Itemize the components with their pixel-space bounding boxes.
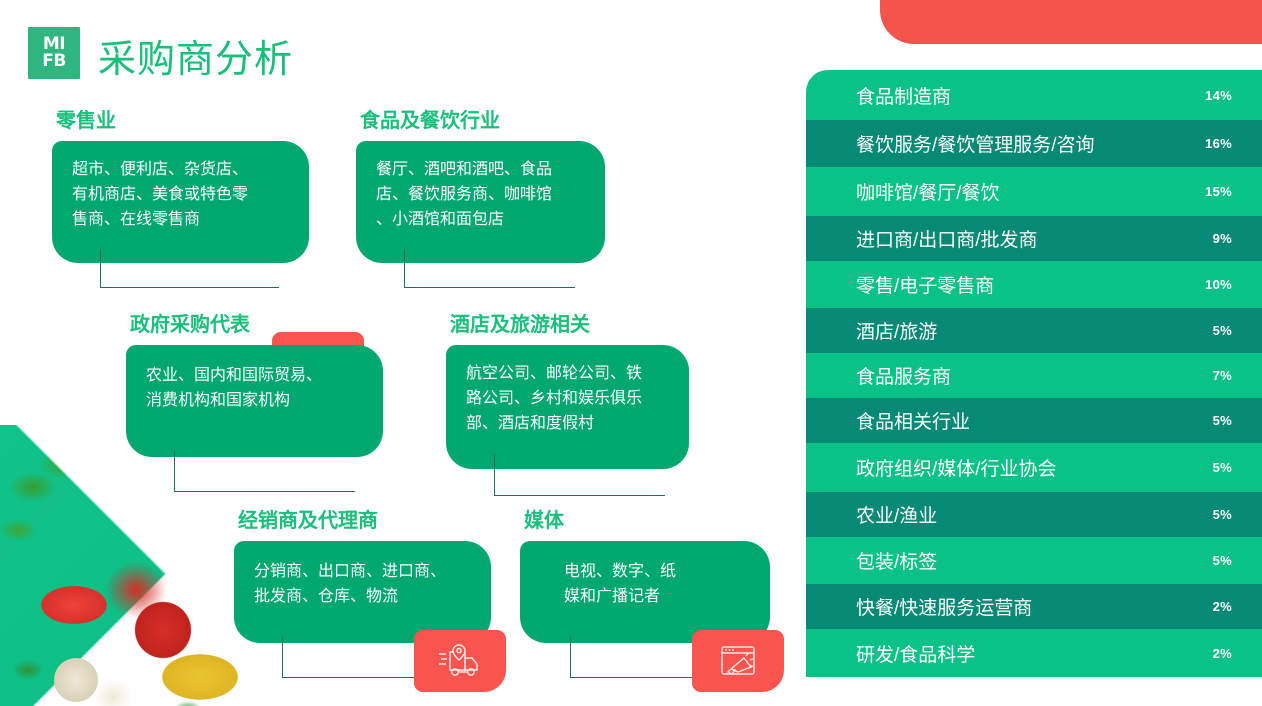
card-media-body: 电视、数字、纸 媒和广播记者 — [520, 541, 770, 643]
mifb-logo: MI FB — [28, 27, 80, 79]
stat-row[interactable]: 咖啡馆/餐厅/餐饮15% — [806, 167, 1262, 216]
stat-value: 10% — [1192, 277, 1232, 292]
stat-row[interactable]: 酒店/旅游5% — [806, 308, 1262, 353]
card-media-text: 电视、数字、纸 媒和广播记者 — [564, 559, 752, 609]
stat-label: 酒店/旅游 — [856, 317, 1192, 344]
card-retail-connector — [100, 249, 279, 288]
stat-row[interactable]: 快餐/快速服务运营商2% — [806, 584, 1262, 629]
right-stats-panel: 食品制造商14%餐饮服务/餐饮管理服务/咨询16%咖啡馆/餐厅/餐饮15%进口商… — [806, 0, 1262, 706]
card-dist-text: 分销商、出口商、进口商、 批发商、仓库、物流 — [254, 559, 473, 609]
card-gov-text: 农业、国内和国际贸易、 消费机构和国家机构 — [146, 363, 365, 413]
card-government: 政府采购代表 农业、国内和国际贸易、 消费机构和国家机构 — [126, 308, 383, 457]
stat-value: 15% — [1192, 184, 1232, 199]
card-retail-heading: 零售业 — [56, 104, 309, 133]
stat-row[interactable]: 食品制造商14% — [806, 70, 1262, 120]
stat-row[interactable]: 农业/渔业5% — [806, 492, 1262, 537]
stat-label: 快餐/快速服务运营商 — [856, 593, 1192, 620]
page-title: 采购商分析 — [98, 28, 293, 83]
card-gov-body: 农业、国内和国际贸易、 消费机构和国家机构 — [126, 345, 383, 457]
stat-label: 包装/标签 — [856, 547, 1192, 574]
stat-label: 研发/食品科学 — [856, 640, 1192, 667]
stat-label: 零售/电子零售商 — [856, 271, 1192, 298]
card-retail-text: 超市、便利店、杂货店、 有机商店、美食或特色零 售商、在线零售商 — [72, 157, 291, 232]
card-hotel-travel: 酒店及旅游相关 航空公司、邮轮公司、铁 路公司、乡村和娱乐俱乐 部、酒店和度假村 — [446, 308, 689, 469]
card-hotel-heading: 酒店及旅游相关 — [450, 308, 689, 337]
stat-label: 食品服务商 — [856, 362, 1192, 389]
stat-row[interactable]: 零售/电子零售商10% — [806, 261, 1262, 308]
stat-value: 5% — [1192, 323, 1232, 338]
stat-label: 食品制造商 — [856, 82, 1192, 109]
card-food-beverage: 食品及餐饮行业 餐厅、酒吧和酒吧、食品 店、餐饮服务商、咖啡馆 、小酒馆和面包店 — [356, 104, 605, 263]
card-food-connector — [404, 249, 575, 288]
stat-value: 2% — [1192, 646, 1232, 661]
card-dist-heading: 经销商及代理商 — [238, 504, 491, 533]
stat-value: 16% — [1192, 136, 1232, 151]
card-food-heading: 食品及餐饮行业 — [360, 104, 605, 133]
card-hotel-connector — [494, 455, 665, 496]
stat-value: 2% — [1192, 599, 1232, 614]
megaphone-screen-icon — [692, 630, 784, 692]
stat-value: 14% — [1192, 88, 1232, 103]
card-gov-heading: 政府采购代表 — [130, 308, 383, 337]
stat-value: 5% — [1192, 413, 1232, 428]
stat-row[interactable]: 食品相关行业5% — [806, 398, 1262, 443]
stat-label: 政府组织/媒体/行业协会 — [856, 454, 1192, 481]
stat-row[interactable]: 进口商/出口商/批发商9% — [806, 216, 1262, 261]
logo-line-1: MI — [43, 37, 65, 52]
card-media-heading: 媒体 — [524, 504, 770, 533]
red-banner-shape — [880, 0, 1262, 44]
card-media: 媒体 电视、数字、纸 媒和广播记者 — [520, 504, 770, 643]
card-food-text: 餐厅、酒吧和酒吧、食品 店、餐饮服务商、咖啡馆 、小酒馆和面包店 — [376, 157, 587, 232]
stat-value: 5% — [1192, 460, 1232, 475]
slide-header: MI FB 采购商分析 — [0, 0, 806, 96]
card-retail: 零售业 超市、便利店、杂货店、 有机商店、美食或特色零 售商、在线零售商 — [52, 104, 309, 263]
stat-row[interactable]: 研发/食品科学2% — [806, 629, 1262, 677]
stat-value: 9% — [1192, 231, 1232, 246]
stat-row[interactable]: 食品服务商7% — [806, 353, 1262, 398]
stat-row[interactable]: 包装/标签5% — [806, 537, 1262, 584]
stat-label: 餐饮服务/餐饮管理服务/咨询 — [856, 130, 1192, 157]
stat-label: 进口商/出口商/批发商 — [856, 225, 1192, 252]
logo-line-2: FB — [42, 54, 66, 69]
stat-value: 5% — [1192, 507, 1232, 522]
stat-label: 食品相关行业 — [856, 407, 1192, 434]
stat-value: 5% — [1192, 553, 1232, 568]
slide-root: MI FB 采购商分析 零售业 超市、便利店、杂货店、 有机商店、美食或特色零 … — [0, 0, 1262, 706]
card-hotel-body: 航空公司、邮轮公司、铁 路公司、乡村和娱乐俱乐 部、酒店和度假村 — [446, 345, 689, 469]
card-food-body: 餐厅、酒吧和酒吧、食品 店、餐饮服务商、咖啡馆 、小酒馆和面包店 — [356, 141, 605, 263]
card-distributors: 经销商及代理商 分销商、出口商、进口商、 批发商、仓库、物流 — [234, 504, 491, 643]
card-hotel-text: 航空公司、邮轮公司、铁 路公司、乡村和娱乐俱乐 部、酒店和度假村 — [466, 361, 673, 436]
stat-row[interactable]: 政府组织/媒体/行业协会5% — [806, 443, 1262, 492]
stat-label: 咖啡馆/餐厅/餐饮 — [856, 178, 1192, 205]
left-content-panel: MI FB 采购商分析 零售业 超市、便利店、杂货店、 有机商店、美食或特色零 … — [0, 0, 806, 706]
stat-label: 农业/渔业 — [856, 501, 1192, 528]
stat-value: 7% — [1192, 368, 1232, 383]
stats-list: 食品制造商14%餐饮服务/餐饮管理服务/咨询16%咖啡馆/餐厅/餐饮15%进口商… — [806, 70, 1262, 677]
card-dist-body: 分销商、出口商、进口商、 批发商、仓库、物流 — [234, 541, 491, 643]
card-retail-body: 超市、便利店、杂货店、 有机商店、美食或特色零 售商、在线零售商 — [52, 141, 309, 263]
delivery-truck-icon — [414, 630, 506, 692]
stat-row[interactable]: 餐饮服务/餐饮管理服务/咨询16% — [806, 120, 1262, 167]
